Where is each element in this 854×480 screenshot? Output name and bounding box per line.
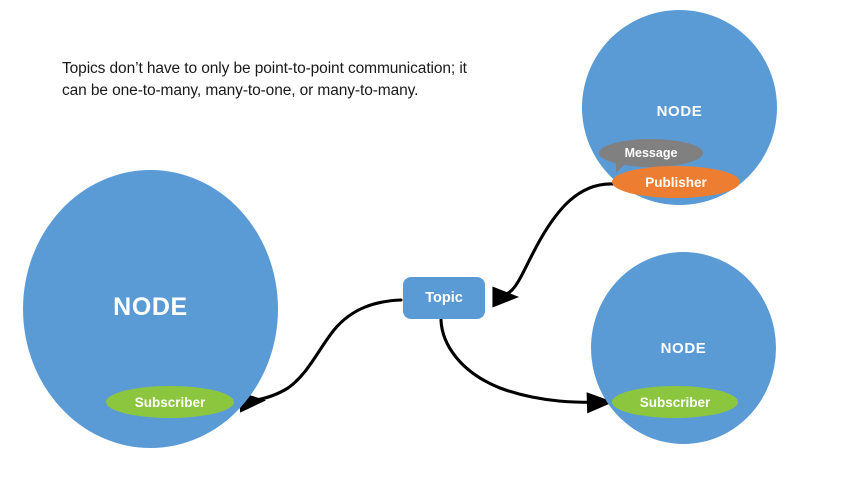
topic-label: Topic xyxy=(425,290,463,306)
topic-box[interactable]: Topic xyxy=(403,277,485,319)
publisher-oval[interactable]: Publisher xyxy=(612,166,740,198)
subscriber-oval-bottom-right[interactable]: Subscriber xyxy=(612,386,738,418)
node-top-right-label: NODE xyxy=(582,103,777,120)
publisher-label: Publisher xyxy=(645,175,707,190)
arrow-publisher-to-topic xyxy=(494,184,614,297)
message-callout[interactable]: Message xyxy=(599,139,703,167)
subscriber-left-label: Subscriber xyxy=(135,395,206,410)
message-label: Message xyxy=(625,146,678,160)
subscriber-oval-left[interactable]: Subscriber xyxy=(106,386,234,418)
arrow-topic-to-subscriber-bottomright xyxy=(441,320,612,402)
slide-canvas: Topics don’t have to only be point-to-po… xyxy=(0,0,854,480)
caption-text: Topics don’t have to only be point-to-po… xyxy=(62,58,482,103)
subscriber-bottom-right-label: Subscriber xyxy=(640,395,711,410)
node-left-label: NODE xyxy=(23,293,278,322)
message-bubble[interactable]: Message xyxy=(599,139,703,167)
node-bottom-right-label: NODE xyxy=(591,340,776,357)
